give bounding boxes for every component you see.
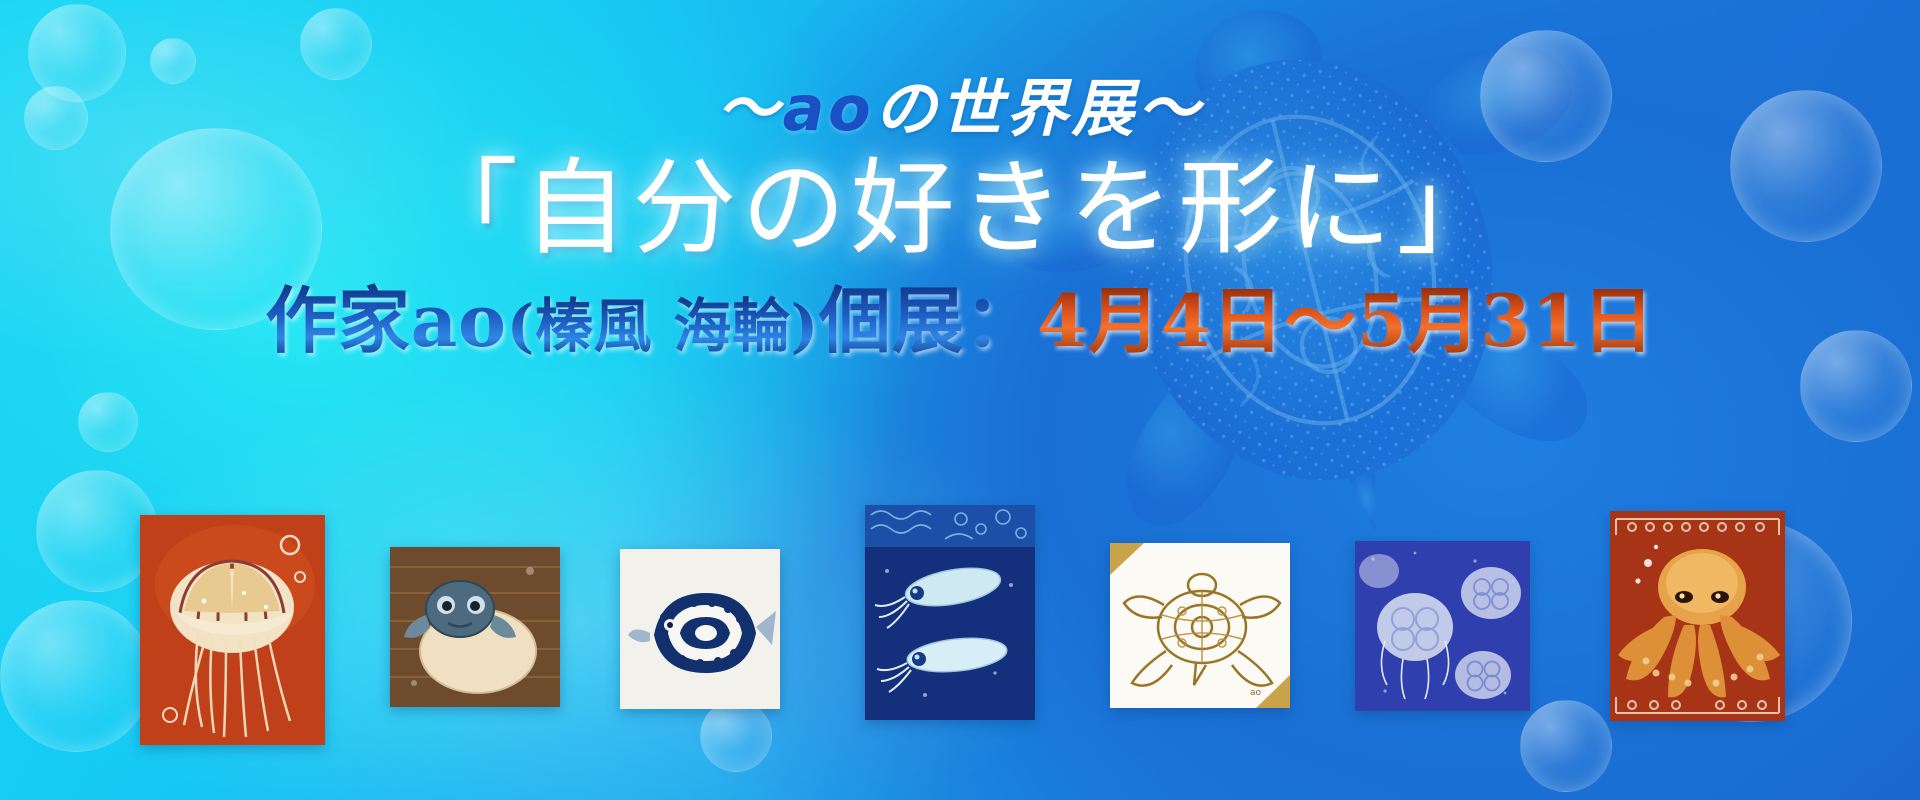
svg-text:ao: ao (1250, 688, 1262, 698)
banner-text-block: 〜aoの世界展〜 「自分の好きを形に」 作家ao(榛風 海輪)個展：4月4日〜5… (0, 0, 1920, 357)
exhibition-banner: 〜aoの世界展〜 「自分の好きを形に」 作家ao(榛風 海輪)個展：4月4日〜5… (0, 0, 1920, 800)
artwork-thumbnail[interactable] (865, 505, 1035, 720)
artwork-thumbnail[interactable] (390, 547, 560, 707)
artist-name: ao (411, 278, 507, 363)
artwork-thumbnail[interactable] (140, 515, 325, 745)
artwork-thumbnail[interactable] (1610, 511, 1785, 721)
tagline: 〜aoの世界展〜 (0, 78, 1920, 140)
artist-reading: (榛風 海輪) (507, 292, 819, 360)
page-title: 「自分の好きを形に」 (0, 154, 1920, 263)
tagline-suffix: の世界展〜 (875, 72, 1204, 145)
artwork-thumbnail[interactable]: ao (1110, 543, 1290, 708)
artist-and-dates: 作家ao(榛風 海輪)個展：4月4日〜5月31日 (0, 285, 1920, 357)
bubble-icon (78, 392, 138, 452)
date-range: 4月4日〜5月31日 (1037, 278, 1655, 363)
exhibition-label: 個展： (819, 278, 1037, 363)
tagline-prefix: 〜 (717, 72, 783, 145)
tagline-ao: ao (783, 72, 875, 145)
artwork-strip: ao (0, 515, 1920, 765)
artist-prefix: 作家 (265, 278, 410, 363)
artwork-thumbnail[interactable] (620, 549, 780, 709)
artwork-thumbnail[interactable] (1355, 541, 1530, 711)
